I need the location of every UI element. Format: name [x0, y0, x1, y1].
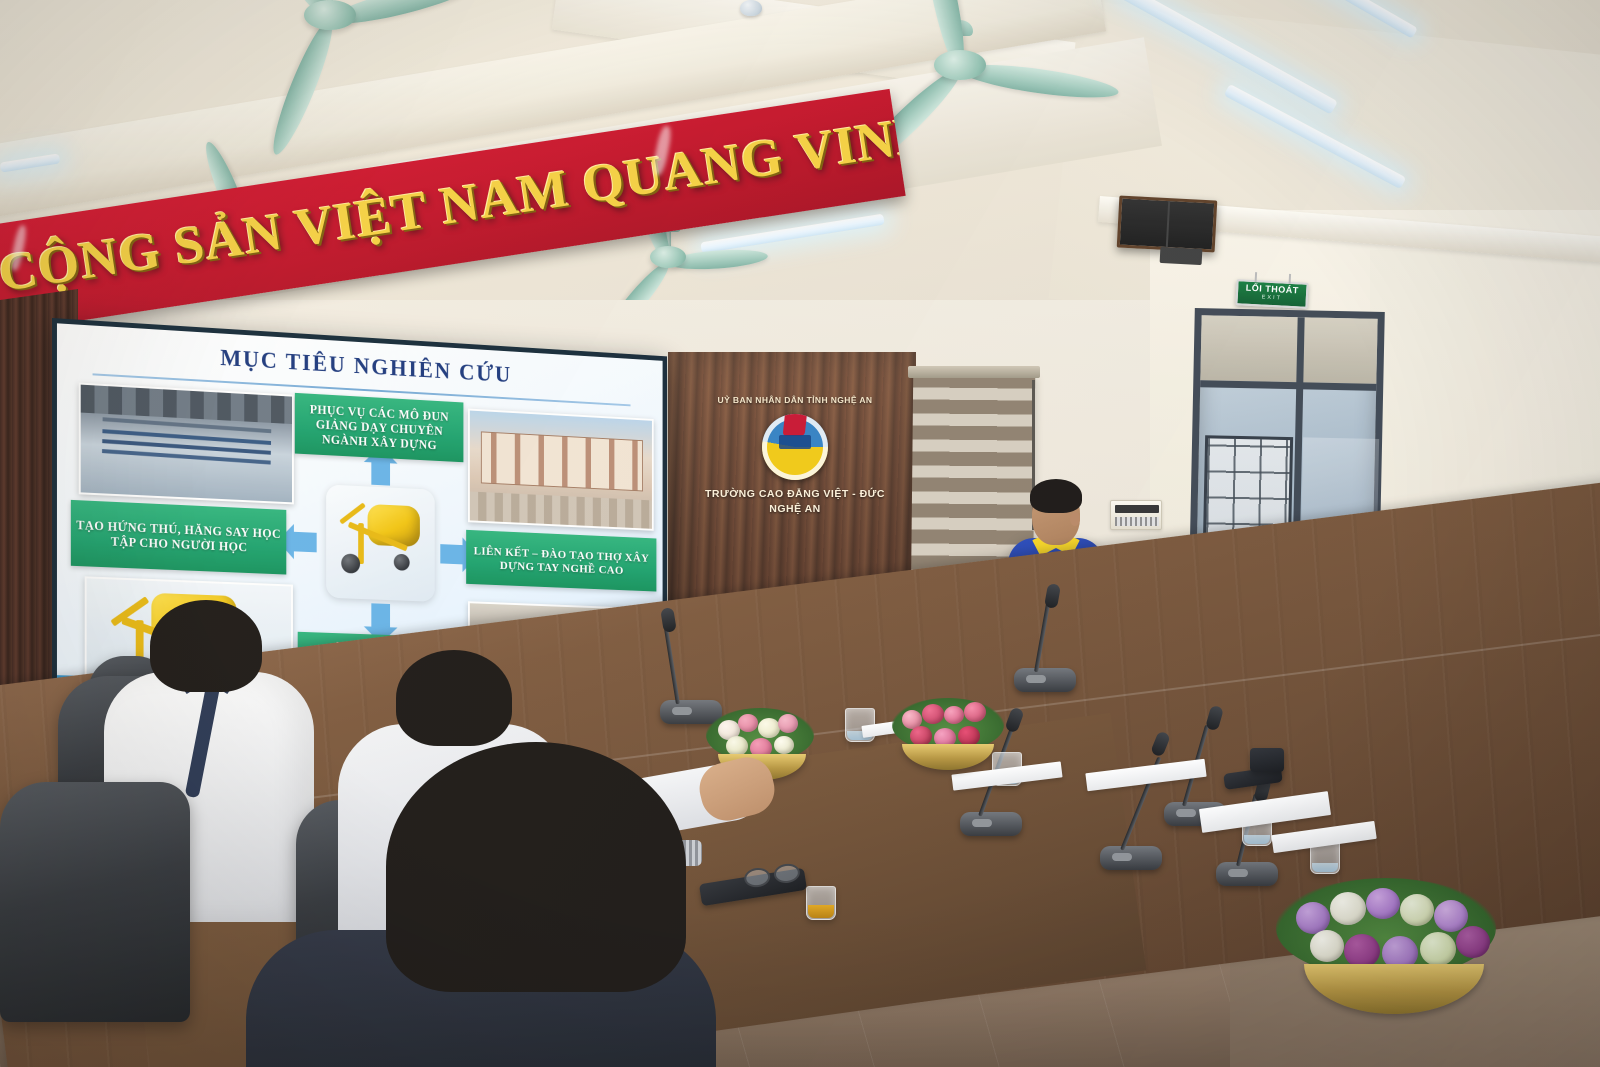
school-emblem-icon [762, 414, 828, 480]
mic-base [1100, 846, 1162, 870]
flower-bud [1344, 934, 1380, 968]
wall-plaque: UỶ BAN NHÂN DÂN TỈNH NGHỆ AN TRƯỜNG CAO … [700, 395, 890, 517]
flower-bud [958, 726, 980, 746]
presenter-hair [1030, 479, 1082, 513]
plaque-authority-line: UỶ BAN NHÂN DÂN TỈNH NGHỆ AN [700, 395, 890, 405]
mic-base [1014, 668, 1076, 692]
electrical-panel [1110, 500, 1162, 530]
arrow-left-icon [294, 532, 317, 553]
audience-foreground-hair [386, 742, 686, 992]
mic-base [960, 812, 1022, 836]
smoke-detector-icon [740, 0, 762, 16]
arrow-right-icon [440, 544, 462, 564]
mixer-wheel [341, 553, 360, 573]
flower-bud [738, 714, 758, 732]
mixer-wheel [394, 554, 410, 571]
exit-sign-hanger [1255, 272, 1258, 282]
mixer-handle [339, 502, 366, 524]
exit-sign-hanger [1289, 274, 1292, 284]
audience-light-shirt-hair [396, 650, 512, 746]
blind-headrail [908, 366, 1040, 378]
plaque-school-name: TRƯỜNG CAO ĐẲNG VIỆT - ĐỨC [700, 487, 890, 502]
fan-hub [304, 0, 356, 30]
slide-photo-factory-corridor [79, 383, 294, 505]
flower-bud [726, 736, 748, 756]
flower-bud [964, 702, 986, 722]
mic-base [1216, 862, 1278, 886]
fan-hub [650, 246, 686, 268]
presenter-ear [1070, 512, 1080, 526]
flower-bud [910, 726, 932, 746]
flower-bud [1420, 932, 1456, 966]
audience-white-polo-hair [150, 600, 262, 692]
slide-goal-box-top: PHỤC VỤ CÁC MÔ ĐUN GIẢNG DẠY CHUYÊN NGÀN… [295, 393, 464, 462]
flower-bud [778, 714, 798, 733]
flower-bud [944, 706, 964, 724]
flower-bud [1434, 900, 1468, 932]
flower-bud [774, 736, 794, 754]
handheld-device[interactable] [1250, 748, 1284, 772]
conference-room-photo: CỘNG SẢN VIỆT NAM QUANG VINH MUÔN NĂM UỶ… [0, 0, 1600, 1067]
fan-hub [934, 50, 986, 80]
flower-bud [1366, 888, 1400, 919]
slide-photo-school-building [468, 409, 654, 531]
flower-bud [1310, 930, 1344, 962]
exit-sign-label-en: EXIT [1261, 294, 1282, 304]
slide-center-mixer-image [326, 484, 435, 601]
wall-speaker [1117, 195, 1218, 252]
flower-bud [1456, 926, 1490, 958]
plaque-province-name: NGHỆ AN [700, 502, 890, 517]
exit-sign: LỐI THOÁT EXIT [1235, 279, 1308, 309]
chair[interactable] [0, 782, 190, 1022]
door-transom-window [1200, 315, 1377, 391]
slide-goal-box-left: TẠO HỨNG THÚ, HĂNG SAY HỌC TẬP CHO NGƯỜI… [71, 500, 286, 575]
mixer-frame [358, 523, 364, 564]
flower-bud [1400, 894, 1434, 926]
arrow-down-icon [371, 603, 390, 627]
speaker-mount-bracket [1160, 247, 1203, 265]
flower-bud [1330, 892, 1366, 925]
arrow-up-icon [371, 461, 390, 485]
flower-bud [922, 704, 944, 724]
tea-glass[interactable] [806, 886, 836, 920]
flower-bud [758, 718, 780, 738]
slide-goal-box-right: LIÊN KẾT – ĐÀO TẠO THỢ XÂY DỰNG TAY NGHỀ… [466, 530, 656, 592]
